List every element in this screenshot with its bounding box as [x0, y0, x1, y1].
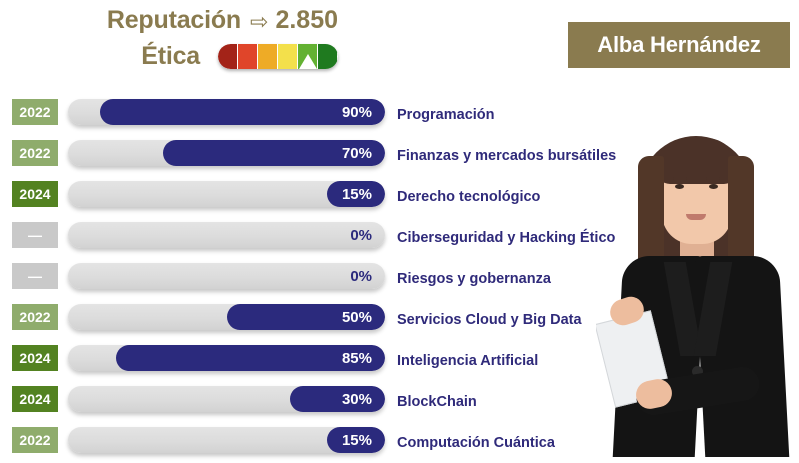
year-badge: 2024 — [12, 345, 58, 371]
name-badge-label: Alba Hernández — [597, 32, 760, 58]
photo-mouth — [686, 214, 706, 220]
skill-progress-bar[interactable]: 15% — [68, 181, 385, 207]
skill-percent-label: 50% — [342, 304, 372, 330]
year-badge: 2024 — [12, 386, 58, 412]
skill-name-label: Riesgos y gobernanza — [397, 258, 551, 299]
year-badge-label: 2022 — [19, 309, 50, 325]
skill-progress-bar[interactable]: 0% — [68, 222, 385, 248]
year-badge-label: 2024 — [19, 391, 50, 407]
year-badge: — — [12, 222, 58, 248]
ethics-meter — [218, 44, 338, 69]
skill-progress-bar[interactable]: 85% — [68, 345, 385, 371]
ethics-row: Ética — [0, 42, 338, 71]
skill-name-label: Programación — [397, 94, 495, 135]
skill-percent-label: 0% — [350, 222, 372, 248]
arrow-right-icon: ⇨ — [250, 11, 268, 33]
ethics-segment-2 — [238, 44, 258, 69]
reputation-value: 2.850 — [275, 6, 338, 35]
skill-row: 202290%Programación — [0, 94, 799, 135]
ethics-segment-3 — [258, 44, 278, 69]
skill-progress-bar[interactable]: 30% — [68, 386, 385, 412]
year-badge: 2022 — [12, 140, 58, 166]
photo-eye-right — [709, 184, 718, 189]
ethics-marker-icon — [299, 54, 317, 69]
photo-eye-left — [675, 184, 684, 189]
skill-progress-bar[interactable]: 15% — [68, 427, 385, 453]
year-badge: — — [12, 263, 58, 289]
year-badge-label: 2022 — [19, 432, 50, 448]
skill-progress-bar[interactable]: 90% — [68, 99, 385, 125]
photo-eyebrow-right — [706, 177, 720, 180]
skill-name-label: Ciberseguridad y Hacking Ético — [397, 217, 615, 258]
skill-progress-bar[interactable]: 70% — [68, 140, 385, 166]
year-badge-label: 2022 — [19, 145, 50, 161]
ethics-segment-6 — [318, 44, 338, 69]
year-badge-label: — — [28, 227, 42, 243]
skill-percent-label: 70% — [342, 140, 372, 166]
year-badge-label: 2024 — [19, 186, 50, 202]
skill-percent-label: 30% — [342, 386, 372, 412]
year-badge: 2022 — [12, 99, 58, 125]
year-badge-label: 2022 — [19, 104, 50, 120]
skill-name-label: Servicios Cloud y Big Data — [397, 299, 582, 340]
reputation-row: Reputación ⇨ 2.850 — [0, 6, 338, 35]
skill-percent-label: 0% — [350, 263, 372, 289]
skill-percent-label: 15% — [342, 181, 372, 207]
header: Reputación ⇨ 2.850 Ética — [0, 0, 400, 92]
ethics-segment-4 — [278, 44, 298, 69]
name-badge: Alba Hernández — [568, 22, 790, 68]
skill-name-label: Finanzas y mercados bursátiles — [397, 135, 616, 176]
avatar-photo — [596, 130, 796, 457]
year-badge: 2022 — [12, 304, 58, 330]
skill-percent-label: 85% — [342, 345, 372, 371]
infographic-canvas: Reputación ⇨ 2.850 Ética Alba Hernández … — [0, 0, 799, 457]
year-badge: 2022 — [12, 427, 58, 453]
reputation-label: Reputación — [107, 6, 241, 35]
ethics-label: Ética — [141, 42, 200, 71]
year-badge: 2024 — [12, 181, 58, 207]
ethics-segment-1 — [218, 44, 238, 69]
skill-name-label: Inteligencia Artificial — [397, 340, 538, 381]
skill-progress-bar[interactable]: 0% — [68, 263, 385, 289]
year-badge-label: 2024 — [19, 350, 50, 366]
skill-percent-label: 15% — [342, 427, 372, 453]
photo-eyebrow-left — [673, 177, 687, 180]
skill-percent-label: 90% — [342, 99, 372, 125]
skill-name-label: Derecho tecnológico — [397, 176, 540, 217]
skill-progress-bar[interactable]: 50% — [68, 304, 385, 330]
skill-name-label: BlockChain — [397, 381, 477, 422]
photo-hair-top — [656, 138, 738, 184]
year-badge-label: — — [28, 268, 42, 284]
